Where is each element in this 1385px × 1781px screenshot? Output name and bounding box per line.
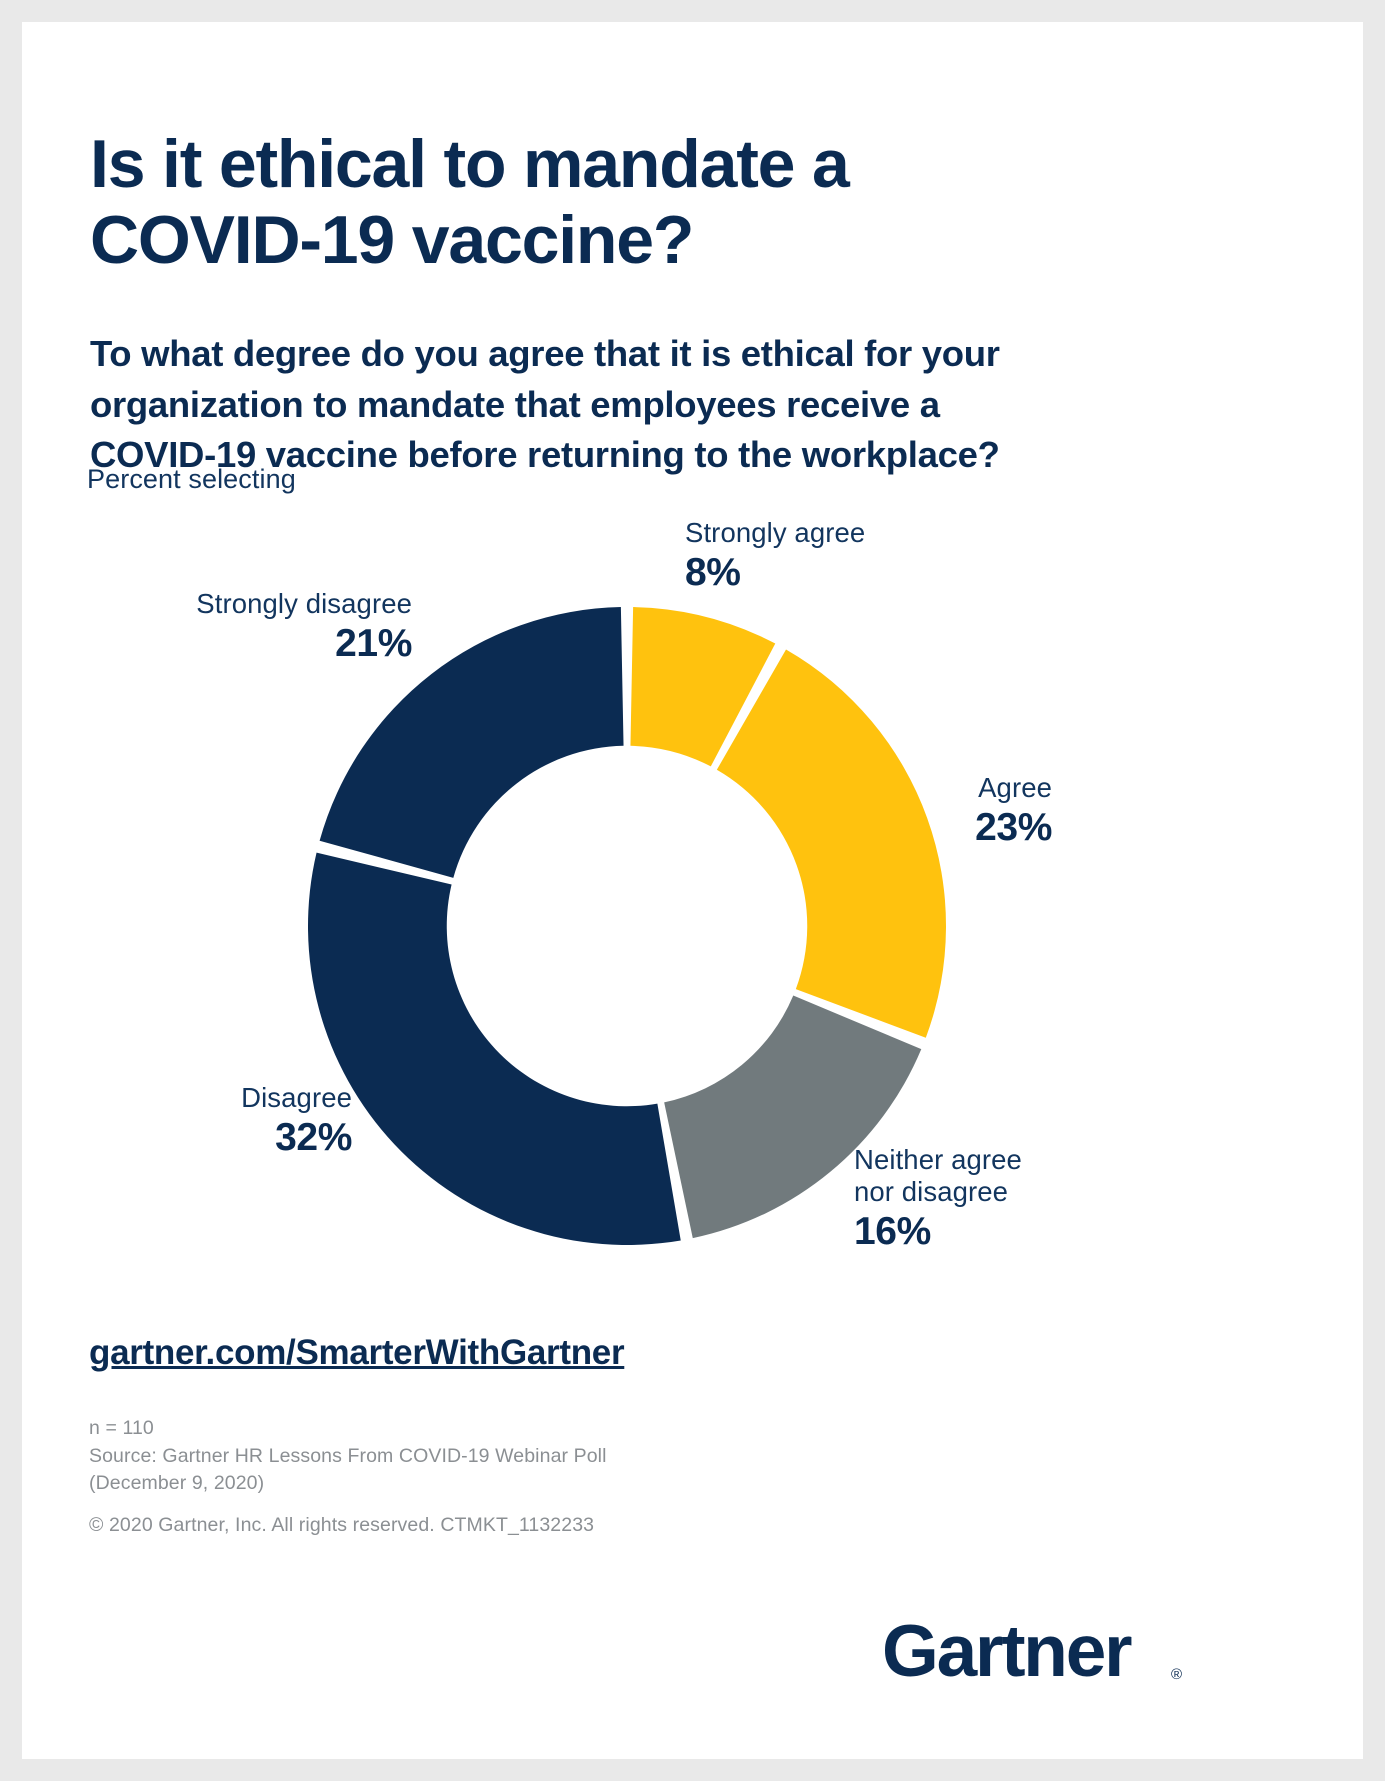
chart-unit-note: Percent selecting	[87, 464, 296, 495]
subhead-line-2: organization to mandate that employees r…	[90, 380, 1145, 430]
callout-disagree-label: Disagree	[82, 1082, 352, 1114]
page-title: Is it ethical to mandate a COVID-19 vacc…	[90, 126, 1170, 278]
gartner-wordmark: Gartner	[882, 1615, 1130, 1688]
callout-agree-value: 23%	[712, 806, 1052, 850]
callout-disagree-value: 32%	[82, 1116, 352, 1160]
subhead-line-1: To what degree do you agree that it is e…	[90, 329, 1145, 379]
callout-neither-label-line-1: Neither agree	[854, 1144, 1022, 1176]
callout-neither-agree-nor-disagree: Neither agree nor disagree 16%	[854, 1144, 1022, 1254]
donut-chart-svg	[308, 607, 946, 1245]
callout-agree-label: Agree	[712, 772, 1052, 804]
donut-chart	[308, 607, 946, 1245]
donut-segment	[308, 853, 681, 1245]
smarter-with-gartner-link[interactable]: gartner.com/SmarterWithGartner	[89, 1333, 624, 1373]
callout-disagree: Disagree 32%	[82, 1082, 352, 1160]
callout-agree: Agree 23%	[712, 772, 1052, 850]
sample-size: n = 110	[89, 1415, 607, 1443]
callout-strongly-disagree-value: 21%	[72, 622, 412, 666]
infographic-poster: Is it ethical to mandate a COVID-19 vacc…	[22, 22, 1363, 1759]
callout-strongly-agree-value: 8%	[685, 551, 865, 595]
source-line: Source: Gartner HR Lessons From COVID-19…	[89, 1443, 607, 1471]
gartner-logo: Gartner ®	[882, 1604, 1182, 1696]
registered-trademark-icon: ®	[1171, 1666, 1182, 1683]
headline-line-2: COVID-19 vaccine?	[90, 202, 1170, 278]
source-date-line: (December 9, 2020)	[89, 1470, 607, 1498]
donut-segment-group	[308, 607, 946, 1245]
callout-strongly-disagree: Strongly disagree 21%	[72, 588, 412, 666]
callout-strongly-agree: Strongly agree 8%	[685, 517, 865, 595]
copyright-line: © 2020 Gartner, Inc. All rights reserved…	[89, 1512, 607, 1540]
callout-strongly-disagree-label: Strongly disagree	[72, 588, 412, 620]
footnote-block: n = 110 Source: Gartner HR Lessons From …	[89, 1415, 607, 1540]
callout-strongly-agree-label: Strongly agree	[685, 517, 865, 549]
callout-neither-label-line-2: nor disagree	[854, 1176, 1022, 1208]
callout-neither-value: 16%	[854, 1210, 1022, 1254]
survey-question: To what degree do you agree that it is e…	[90, 329, 1145, 480]
headline-line-1: Is it ethical to mandate a	[90, 126, 1170, 202]
